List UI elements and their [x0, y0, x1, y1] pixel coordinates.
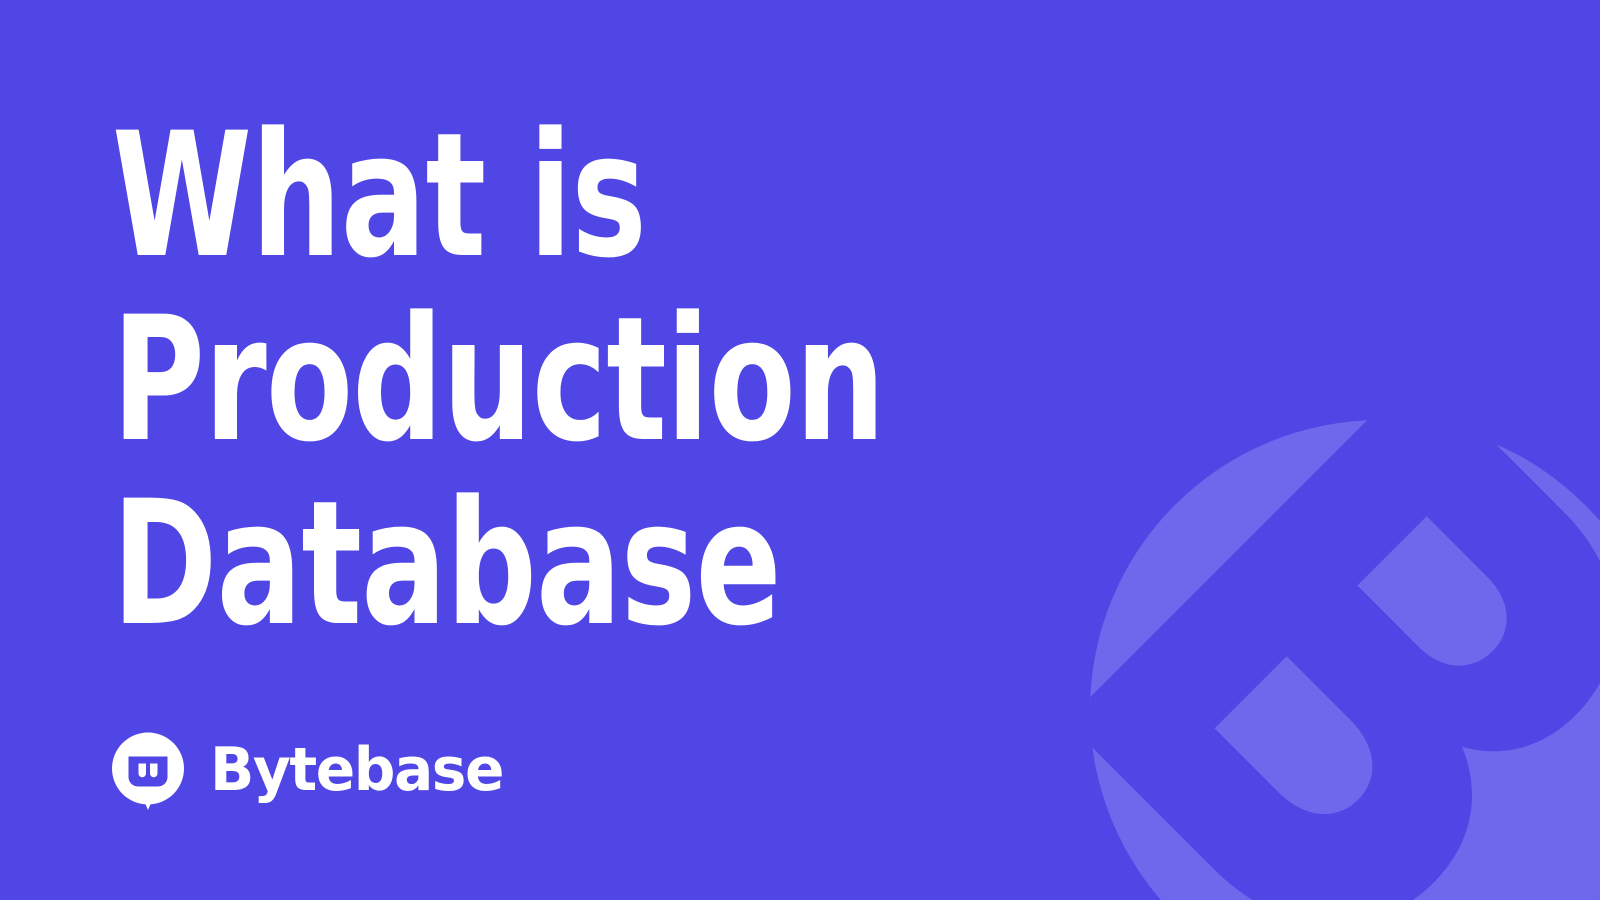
bytebase-wordmark: Bytebase: [210, 739, 503, 801]
cover-canvas: What is Production Database: [0, 0, 1600, 900]
brand-lockup[interactable]: Bytebase: [108, 730, 512, 810]
page-title: What is Production Database: [112, 104, 1211, 656]
bytebase-logo-icon: [108, 730, 188, 810]
